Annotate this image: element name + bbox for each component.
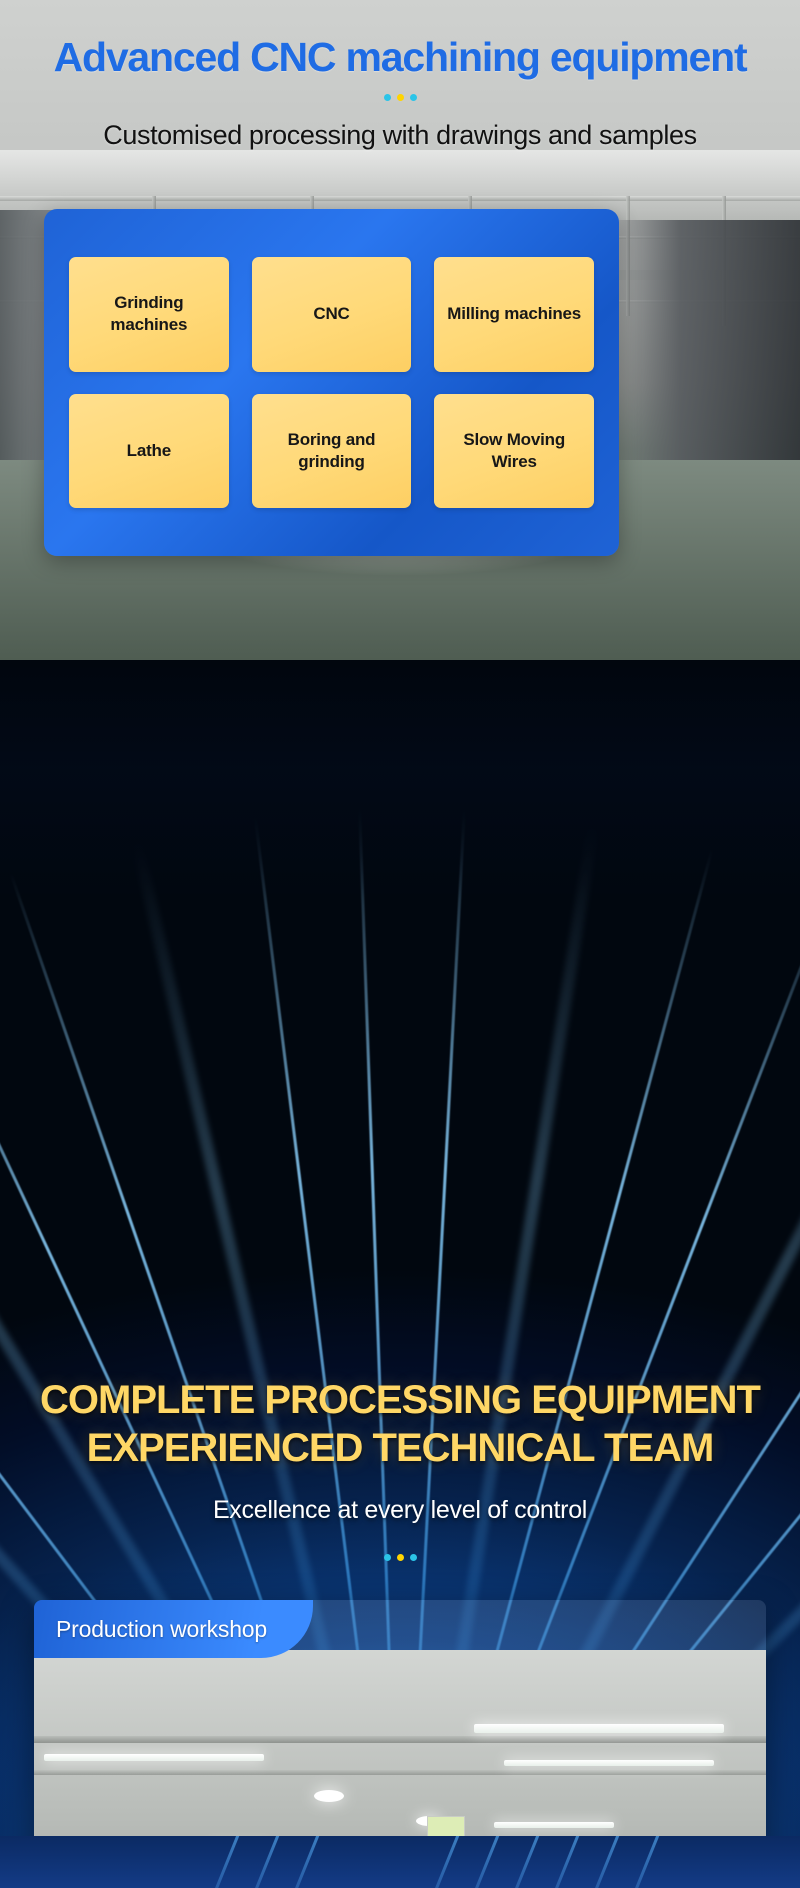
dot-1 xyxy=(384,94,391,101)
tech-title-line2: EXPERIENCED TECHNICAL TEAM xyxy=(0,1424,800,1472)
dot-separator xyxy=(0,94,800,101)
equipment-chip-slow-moving-wires[interactable]: Slow Moving Wires xyxy=(434,394,594,509)
dot-1 xyxy=(384,1554,391,1561)
page-subtitle: Customised processing with drawings and … xyxy=(0,118,800,152)
bottom-strip xyxy=(0,1836,800,1888)
photo-tag: Production workshop xyxy=(34,1600,313,1658)
equipment-chip-milling-machines[interactable]: Milling machines xyxy=(434,257,594,372)
tech-subtitle: Excellence at every level of control xyxy=(0,1494,800,1526)
equipment-card: Grinding machines CNC Milling machines L… xyxy=(44,209,619,556)
tech-banner-section: COMPLETE PROCESSING EQUIPMENT EXPERIENCE… xyxy=(0,660,800,1888)
machine-right xyxy=(600,220,800,520)
white-sheet xyxy=(492,553,555,605)
page-title: Advanced CNC machining equipment xyxy=(0,34,800,80)
dot-2 xyxy=(397,94,404,101)
dot-3 xyxy=(410,94,417,101)
hero-section: Advanced CNC machining equipment Customi… xyxy=(0,0,800,660)
equipment-chip-grinding-machines[interactable]: Grinding machines xyxy=(69,257,229,372)
equipment-chip-cnc[interactable]: CNC xyxy=(252,257,412,372)
dot-2 xyxy=(397,1554,404,1561)
equipment-chip-boring-and-grinding[interactable]: Boring and grinding xyxy=(252,394,412,509)
dot-3 xyxy=(410,1554,417,1561)
top-vignette xyxy=(0,660,800,900)
equipment-chip-lathe[interactable]: Lathe xyxy=(69,394,229,509)
dot-separator-tech xyxy=(0,1554,800,1561)
tech-title-line1: COMPLETE PROCESSING EQUIPMENT xyxy=(0,1376,800,1424)
blue-crate xyxy=(475,578,585,618)
